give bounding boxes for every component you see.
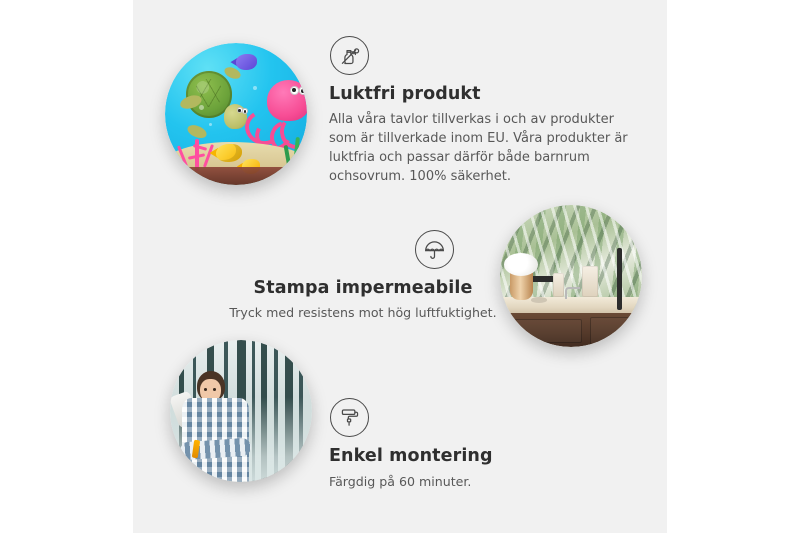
fish-purple — [236, 54, 257, 70]
feature-body: Färgdig på 60 minuter. — [329, 473, 579, 491]
feature-body: Alla våra tavlor tillverkas i och av pro… — [329, 111, 629, 187]
feature-body: Tryck med resistens mot hög luftfuktighe… — [193, 304, 533, 322]
feature-title: Enkel montering — [329, 446, 579, 467]
paint-roller-icon — [330, 398, 369, 437]
feature-title: Stampa impermeabile — [193, 278, 533, 299]
feature-enkel-montering: Enkel montering Färgdig på 60 minuter. — [329, 398, 579, 491]
no-fragrance-icon — [330, 36, 369, 75]
turtle-illustration — [183, 71, 248, 133]
page-root: Luktfri produkt Alla våra tavlor tillver… — [0, 0, 800, 533]
fish-yellow-1 — [216, 144, 242, 162]
photo-forest[interactable] — [170, 340, 312, 482]
photo-forest-inner — [170, 340, 312, 482]
feature-title: Luktfri produkt — [329, 84, 629, 105]
photo-aquarium-inner — [165, 43, 307, 185]
underwater-illustration — [165, 43, 307, 185]
coral-illustration — [174, 128, 222, 171]
umbrella-icon — [415, 230, 454, 269]
photo-aquarium[interactable] — [165, 43, 307, 185]
feature-luktfri-produkt: Luktfri produkt Alla våra tavlor tillver… — [329, 36, 629, 187]
forest-photo — [170, 340, 312, 482]
person-illustration — [179, 371, 261, 482]
feature-stampa-impermeabile: Stampa impermeabile Tryck med resistens … — [193, 230, 533, 322]
content-panel: Luktfri produkt Alla våra tavlor tillver… — [133, 0, 667, 533]
